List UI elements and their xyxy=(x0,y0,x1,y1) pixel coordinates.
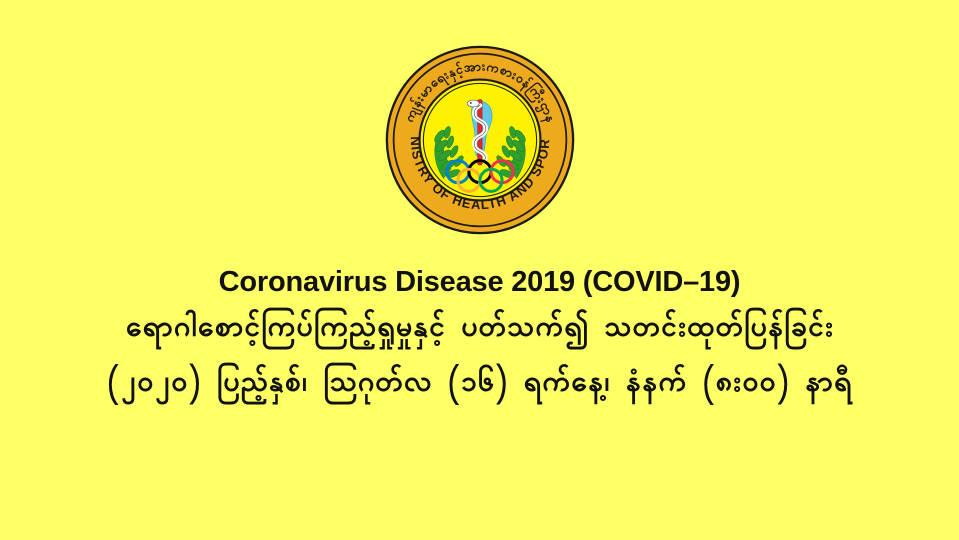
ministry-seal: ကျန်းမာရေးနှင့်အားကစားဝန်ကြီးဌာန MINISTR… xyxy=(384,44,576,236)
snake-eye xyxy=(469,102,471,104)
ministry-seal-graphic: ကျန်းမာရေးနှင့်အားကစားဝန်ကြီးဌာန MINISTR… xyxy=(384,44,576,236)
asclepius-rod xyxy=(477,100,481,165)
announcement-datetime-burmese: (၂၀၂၀) ပြည့်နှစ်၊ သြဂုတ်လ (၁၆) ရက်နေ့၊ န… xyxy=(0,364,959,405)
announcement-subject-burmese: ရောဂါစောင့်ကြပ်ကြည့်ရှုမှုနှင့် ပတ်သက်၍ … xyxy=(0,309,959,350)
press-release-slide: ကျန်းမာရေးနှင့်အားကစားဝန်ကြီးဌာန MINISTR… xyxy=(0,0,959,540)
page-title-english: Coronavirus Disease 2019 (COVID–19) xyxy=(0,268,959,297)
announcement-text-block: Coronavirus Disease 2019 (COVID–19) ရောဂ… xyxy=(0,268,959,404)
snake-head xyxy=(467,100,479,107)
